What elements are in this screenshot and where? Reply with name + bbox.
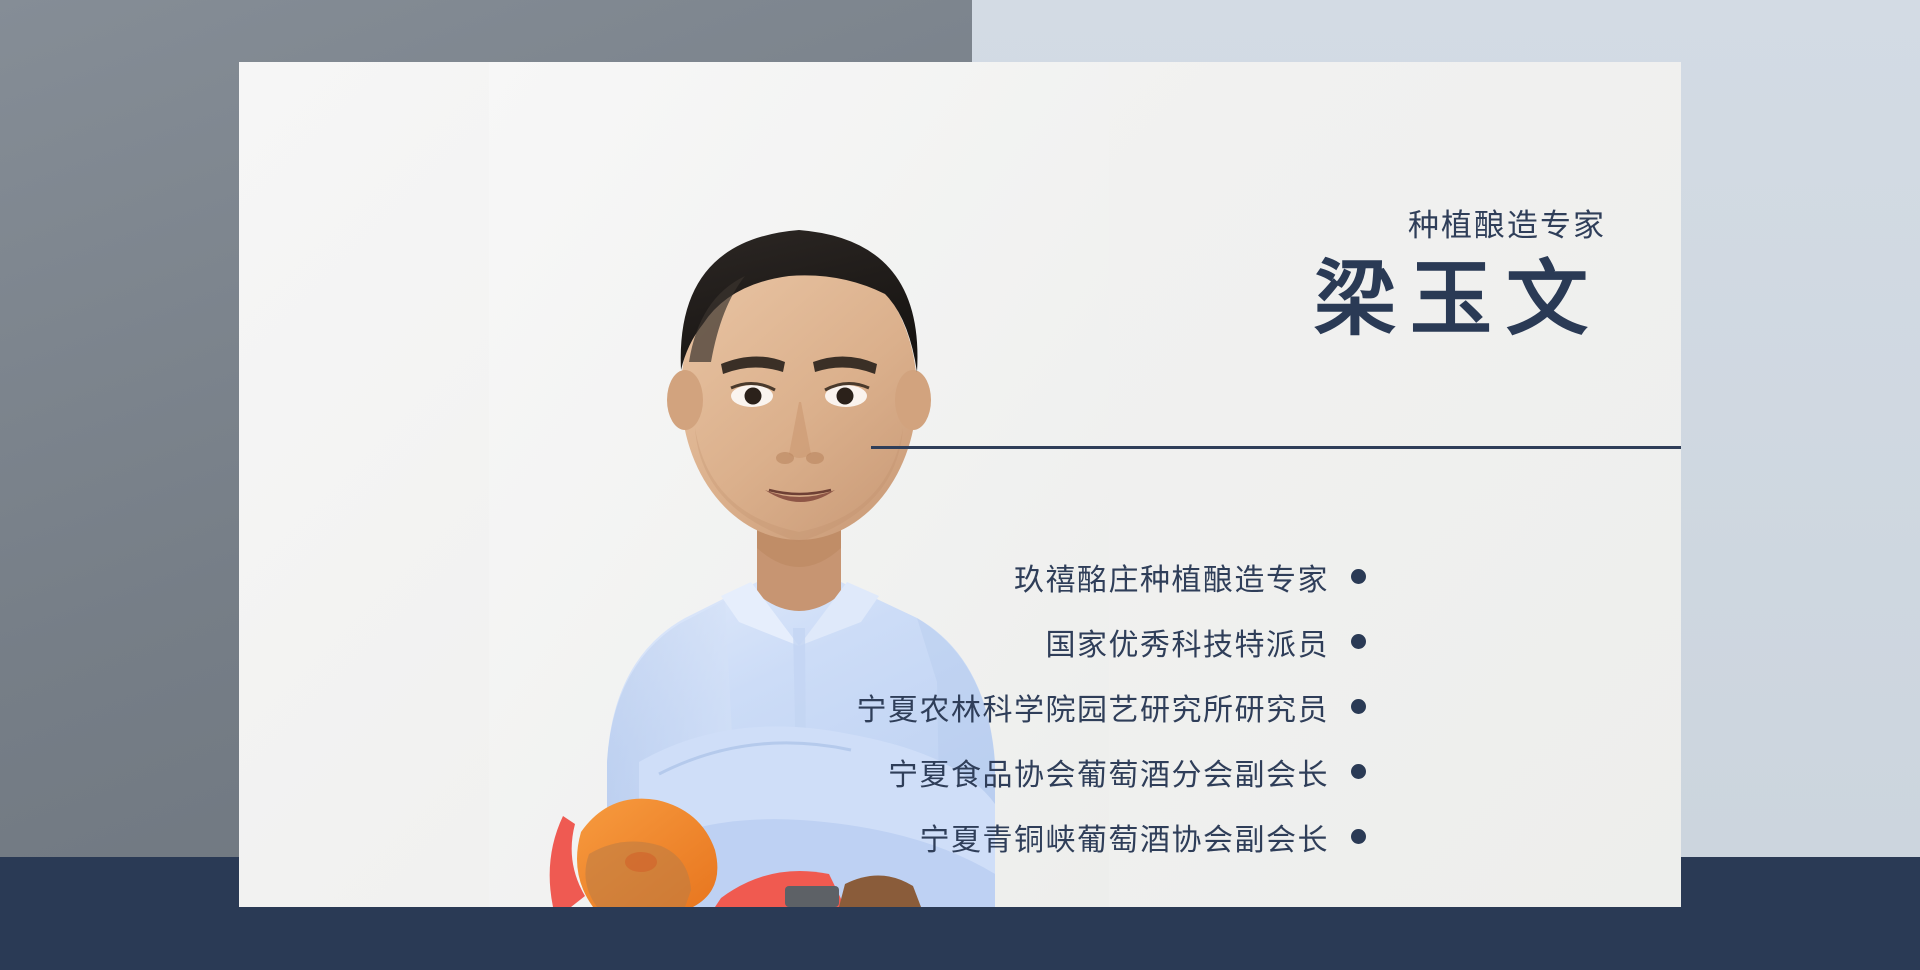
list-item: 宁夏食品协会葡萄酒分会副会长 — [266, 739, 1366, 804]
credentials-list: 玖禧酩庄种植酿造专家 国家优秀科技特派员 宁夏农林科学院园艺研究所研究员 宁夏食… — [266, 544, 1366, 869]
divider — [871, 445, 1681, 450]
credential-label: 宁夏食品协会葡萄酒分会副会长 — [888, 750, 1329, 794]
list-item: 宁夏农林科学院园艺研究所研究员 — [266, 674, 1366, 739]
list-item: 玖禧酩庄种植酿造专家 — [266, 544, 1366, 609]
person-name: 梁玉文 — [1314, 252, 1606, 349]
bullet-dot-icon — [1351, 764, 1366, 779]
credential-label: 玖禧酩庄种植酿造专家 — [1014, 555, 1329, 599]
bullet-dot-icon — [1351, 569, 1366, 584]
credential-label: 国家优秀科技特派员 — [1046, 620, 1330, 664]
credential-label: 宁夏青铜峡葡萄酒协会副会长 — [920, 815, 1330, 859]
bullet-dot-icon — [1351, 699, 1366, 714]
role-title: 种植酿造专家 — [1408, 200, 1606, 245]
bullet-dot-icon — [1351, 634, 1366, 649]
divider-line — [871, 446, 1681, 449]
bullet-dot-icon — [1351, 829, 1366, 844]
list-item: 国家优秀科技特派员 — [266, 609, 1366, 674]
profile-card: 种植酿造专家 梁玉文 玖禧酩庄种植酿造专家 国家优秀科技特派员 宁夏农林科学院园… — [239, 62, 1681, 907]
credential-label: 宁夏农林科学院园艺研究所研究员 — [857, 685, 1330, 729]
list-item: 宁夏青铜峡葡萄酒协会副会长 — [266, 804, 1366, 869]
